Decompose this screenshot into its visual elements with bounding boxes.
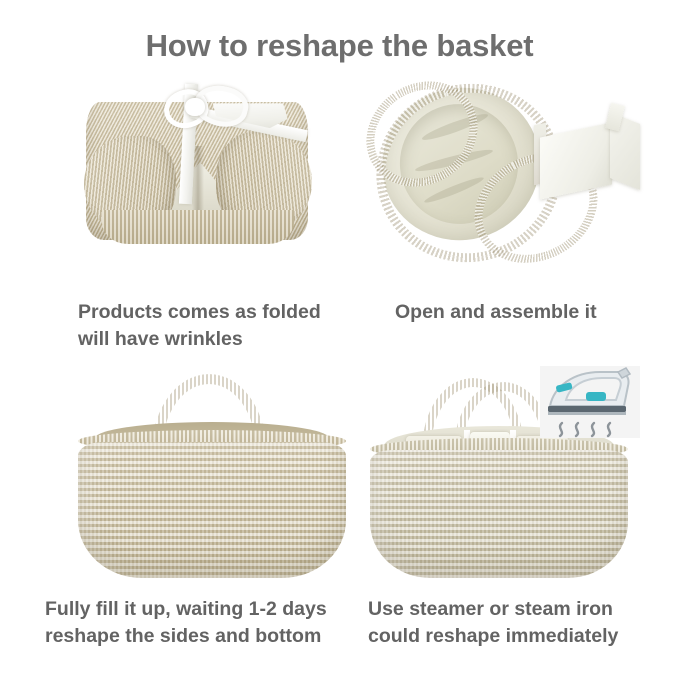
filled-basket-body	[78, 442, 346, 578]
page-title: How to reshape the basket	[0, 28, 679, 64]
step-4-caption: Use steamer or steam iron could reshape …	[368, 596, 618, 650]
step-2-image-open-basket	[362, 82, 642, 247]
ribbon-bow-knot	[185, 98, 205, 116]
infographic-page: How to reshape the basket Products comes…	[0, 0, 679, 679]
steam-iron-icon	[540, 366, 640, 438]
step-1-caption: Products comes as folded will have wrink…	[78, 299, 321, 353]
step-3-image-filled-basket	[78, 372, 346, 578]
step-1-image-folded-basket	[86, 84, 308, 240]
step-2-caption: Open and assemble it	[395, 299, 597, 326]
step-3-caption: Fully fill it up, waiting 1-2 days resha…	[45, 596, 327, 650]
folded-base-coil	[102, 210, 294, 244]
empty-basket-body	[370, 450, 628, 578]
